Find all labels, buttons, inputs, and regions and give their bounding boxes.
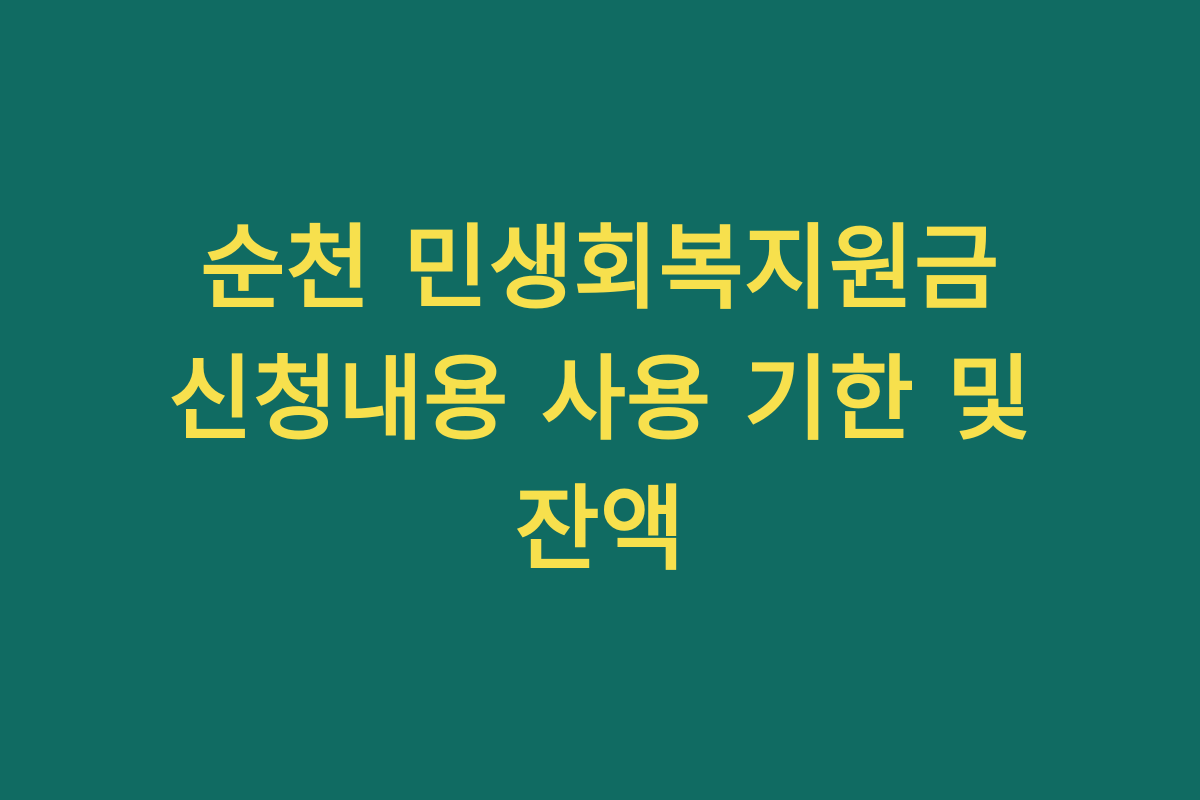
- thumbnail-card: 순천 민생회복지원금 신청내용 사용 기한 및 잔액: [0, 0, 1200, 800]
- headline-title: 순천 민생회복지원금 신청내용 사용 기한 및 잔액: [110, 204, 1090, 596]
- headline-block: 순천 민생회복지원금 신청내용 사용 기한 및 잔액: [100, 204, 1100, 596]
